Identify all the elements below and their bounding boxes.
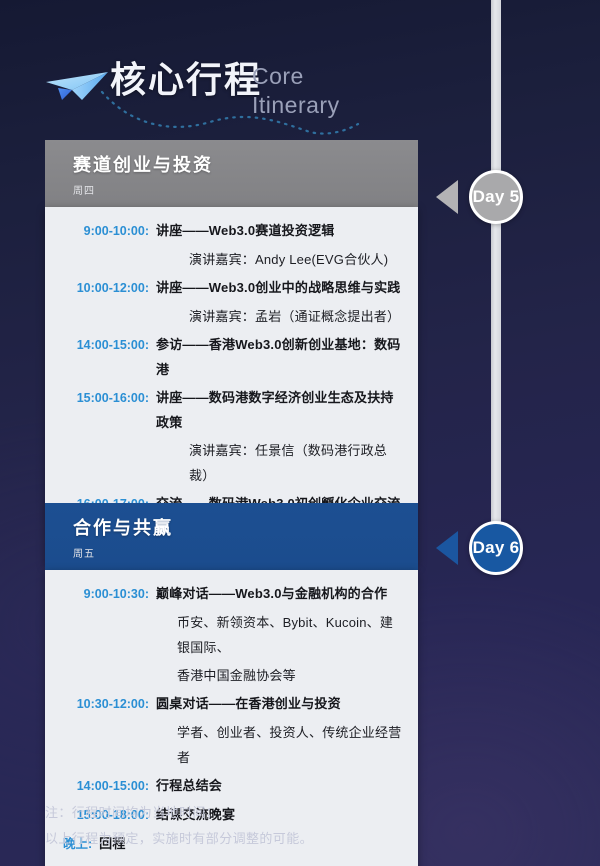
schedule-time: 10:00-12:00: [57,276,149,301]
schedule-subrow: 币安、新领资本、Bybit、Kucoin、建银国际、 [57,610,406,660]
itinerary-card-day-5: 赛道创业与投资 周四 9:00-10:00: 讲座——Web3.0赛道投资逻辑 … [45,140,418,565]
schedule-text: 行程总结会 [149,773,406,798]
schedule-subtext: 学者、创业者、投资人、传统企业经营者 [149,720,406,770]
page-title-en-line1: Core [252,62,340,91]
schedule-time: 14:00-15:00: [57,774,149,799]
schedule-text: 讲座——数码港数字经济创业生态及扶持政策 [149,385,406,435]
schedule-subtext: 演讲嘉宾：任景信（数码港行政总裁） [149,438,406,488]
schedule-row: 10:00-12:00: 讲座——Web3.0创业中的战略思维与实践 [57,275,406,301]
schedule-subrow-spacer [57,610,149,660]
footer-note-line1: 注：行程时间均为当地时间； [45,800,465,826]
schedule-subrow: 演讲嘉宾：任景信（数码港行政总裁） [57,438,406,488]
footer-note-line2: 以上行程为预定，实施时有部分调整的可能。 [45,826,465,852]
schedule-text: 讲座——Web3.0赛道投资逻辑 [149,218,406,243]
schedule-subrow-spacer [57,663,149,688]
card-weekday-day-6: 周五 [73,545,418,560]
schedule-row: 14:00-15:00: 行程总结会 [57,773,406,799]
card-header-day-6: 合作与共赢 周五 [45,503,418,570]
schedule-row: 9:00-10:00: 讲座——Web3.0赛道投资逻辑 [57,218,406,244]
timeline-node-day-6[interactable]: Day 6 [469,521,523,575]
schedule-text: 讲座——Web3.0创业中的战略思维与实践 [149,275,406,300]
schedule-text: 参访——香港Web3.0创新创业基地：数码港 [149,332,406,382]
page-title: 核心行程 [110,62,262,98]
card-weekday-day-5: 周四 [73,182,418,197]
schedule-subtext: 演讲嘉宾：孟岩（通证概念提出者） [149,304,406,329]
schedule-time: 10:30-12:00: [57,692,149,717]
page-title-en: Core Itinerary [252,62,340,119]
schedule-text: 圆桌对话——在香港创业与投资 [149,691,406,716]
page-title-en-line2: Itinerary [252,91,340,120]
card-title-day-5: 赛道创业与投资 [73,153,418,177]
schedule-text: 巅峰对话——Web3.0与金融机构的合作 [149,581,406,606]
schedule-subrow-spacer [57,247,149,272]
day-6-pointer-icon [436,531,458,565]
page-header: 核心行程 Core Itinerary [0,28,470,106]
schedule-row: 9:00-10:30: 巅峰对话——Web3.0与金融机构的合作 [57,581,406,607]
schedule-time: 9:00-10:30: [57,582,149,607]
schedule-subrow-spacer [57,438,149,488]
schedule-time: 14:00-15:00: [57,333,149,358]
schedule-subrow-spacer [57,304,149,329]
schedule-row: 14:00-15:00: 参访——香港Web3.0创新创业基地：数码港 [57,332,406,382]
timeline-track [491,0,501,556]
day-5-pointer-icon [436,180,458,214]
schedule-row: 15:00-16:00: 讲座——数码港数字经济创业生态及扶持政策 [57,385,406,435]
card-title-day-6: 合作与共赢 [73,516,418,540]
timeline-node-day-5[interactable]: Day 5 [469,170,523,224]
card-header-day-5: 赛道创业与投资 周四 [45,140,418,207]
footer-note: 注：行程时间均为当地时间； 以上行程为预定，实施时有部分调整的可能。 [45,800,465,852]
schedule-time: 9:00-10:00: [57,219,149,244]
schedule-subtext: 演讲嘉宾：Andy Lee(EVG合伙人) [149,247,406,272]
schedule-subrow: 演讲嘉宾：孟岩（通证概念提出者） [57,304,406,329]
schedule-subrow: 香港中国金融协会等 [57,663,406,688]
schedule-subtext: 币安、新领资本、Bybit、Kucoin、建银国际、 [149,610,406,660]
schedule-subtext: 香港中国金融协会等 [149,663,406,688]
schedule-subrow: 学者、创业者、投资人、传统企业经营者 [57,720,406,770]
schedule-subrow: 演讲嘉宾：Andy Lee(EVG合伙人) [57,247,406,272]
schedule-time: 15:00-16:00: [57,386,149,411]
schedule-row: 10:30-12:00: 圆桌对话——在香港创业与投资 [57,691,406,717]
schedule-subrow-spacer [57,720,149,770]
